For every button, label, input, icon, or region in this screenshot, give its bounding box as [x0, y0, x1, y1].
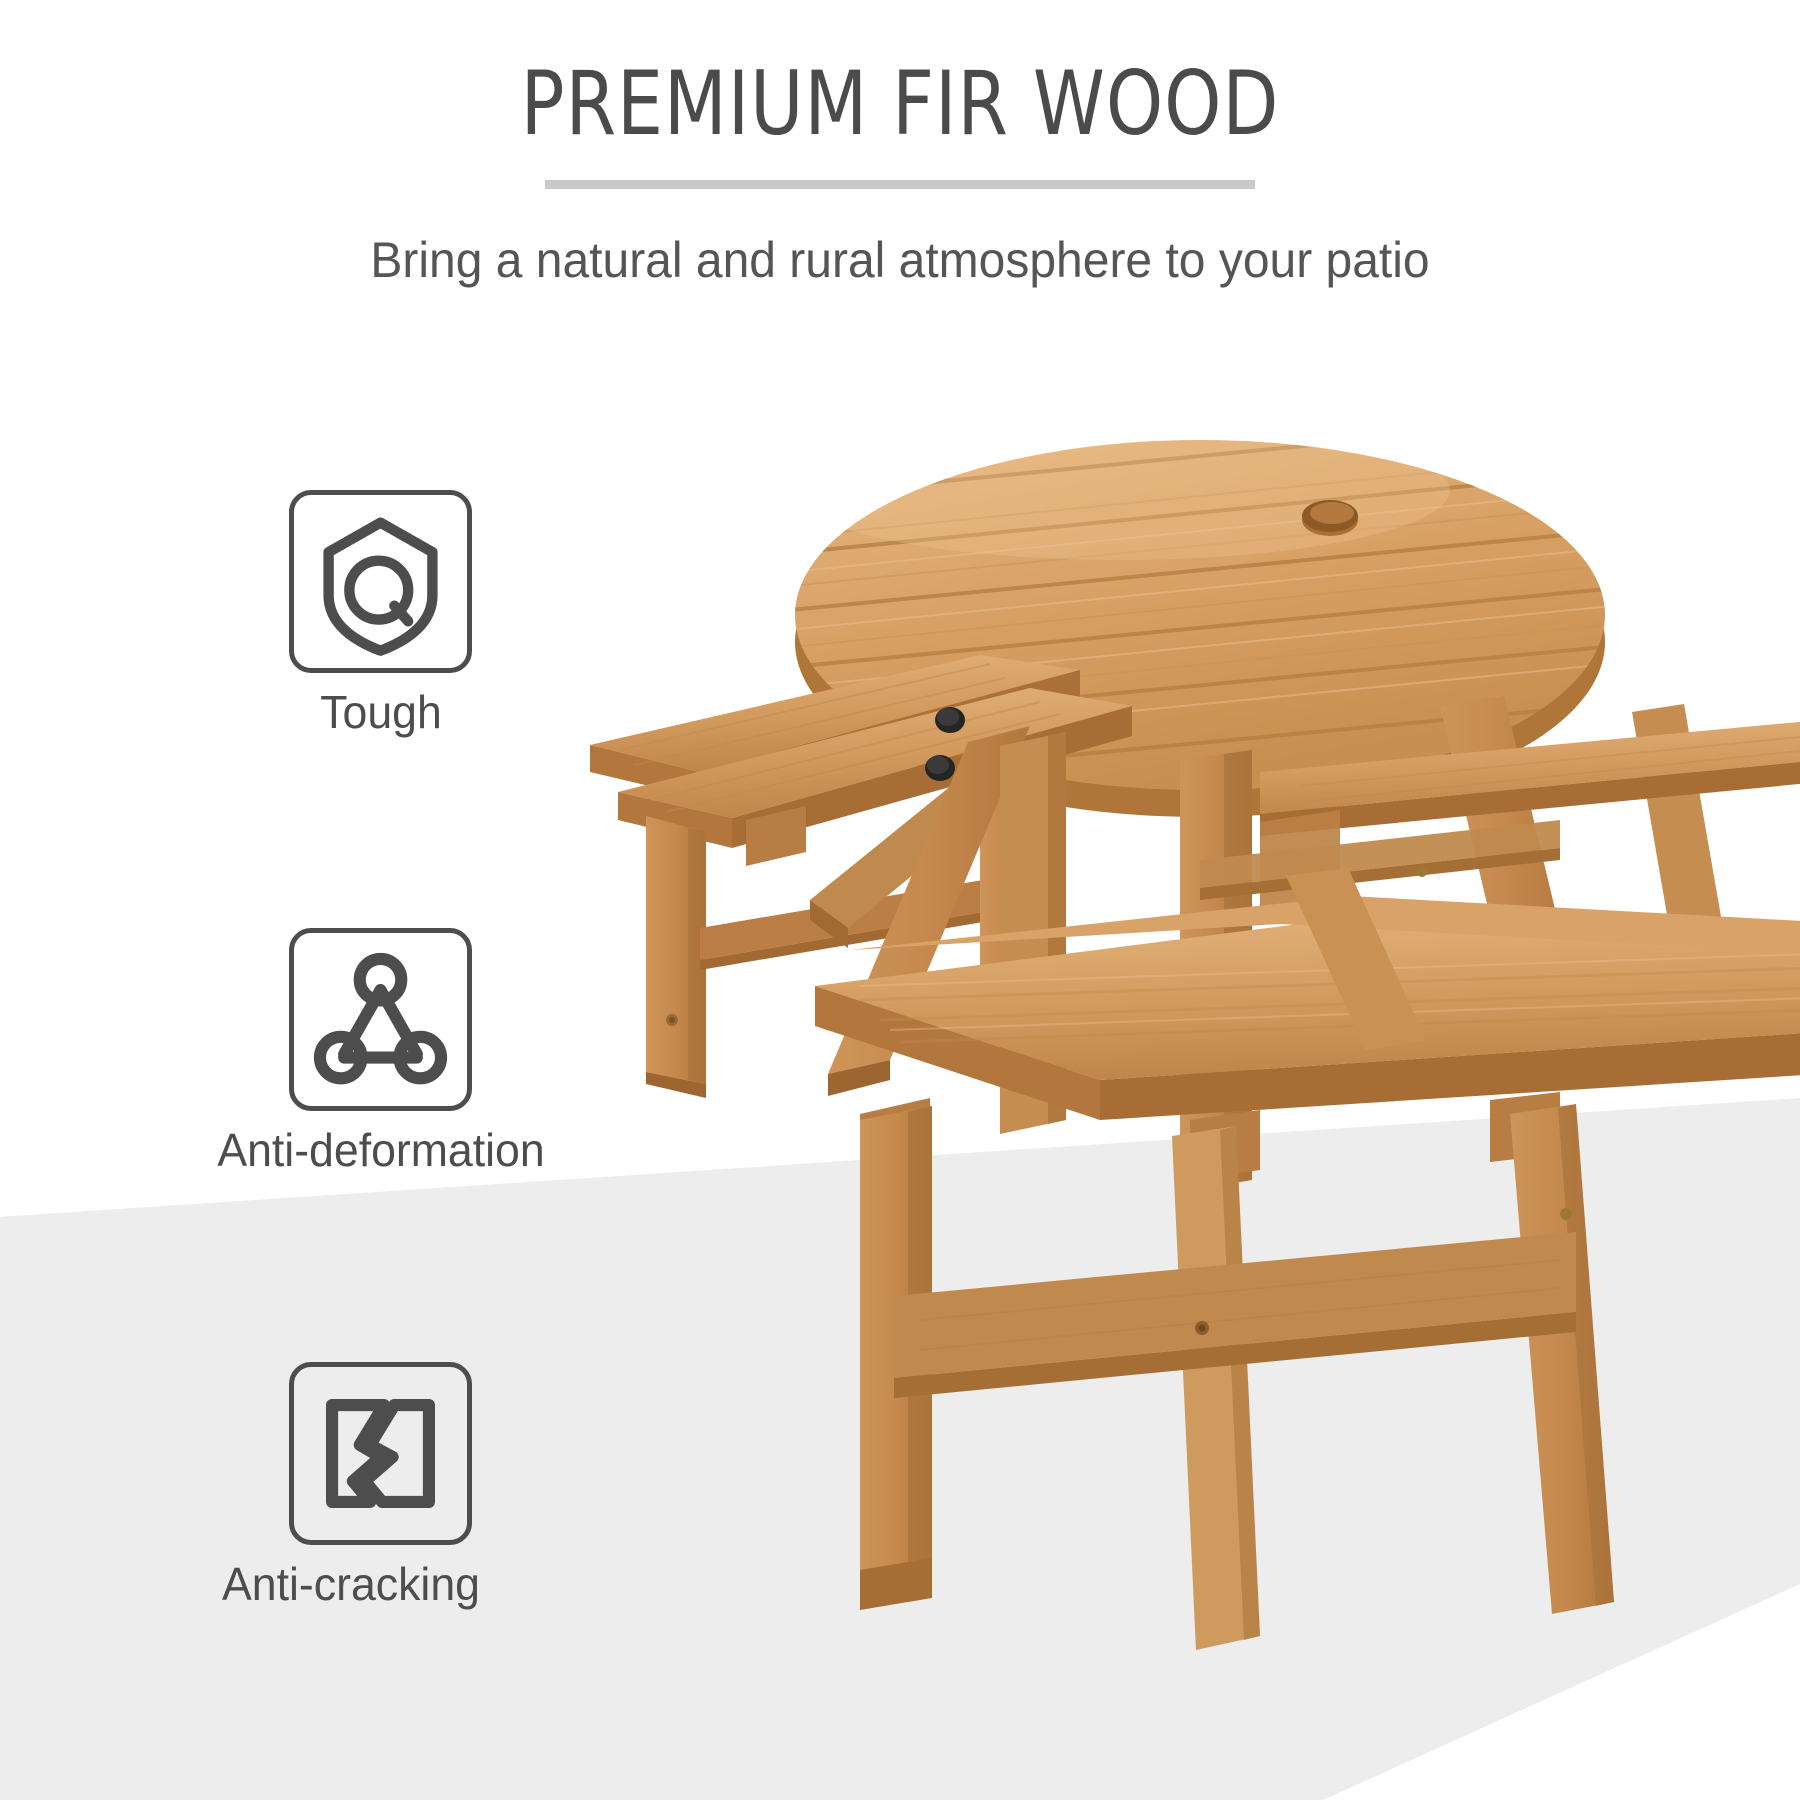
- triangle-nodes-icon: [289, 928, 472, 1111]
- cracked-board-icon: [289, 1362, 472, 1545]
- shield-quality-icon: [289, 490, 472, 673]
- feature-label-anti-deformation: Anti-deformation: [11, 1123, 750, 1177]
- page-subtitle: Bring a natural and rural atmosphere to …: [36, 189, 1764, 289]
- feature-label-anti-cracking: Anti-cracking: [11, 1557, 692, 1611]
- umbrella-hole: [1302, 500, 1358, 536]
- product-image: [560, 420, 1800, 1740]
- front-bench: [815, 896, 1800, 1650]
- title-divider: [545, 180, 1255, 189]
- page-title: PREMIUM FIR WOOD: [72, 0, 1728, 150]
- marketing-banner: PREMIUM FIR WOOD Bring a natural and rur…: [0, 0, 1800, 1800]
- header: PREMIUM FIR WOOD Bring a natural and rur…: [0, 0, 1800, 289]
- feature-label-tough: Tough: [11, 685, 750, 739]
